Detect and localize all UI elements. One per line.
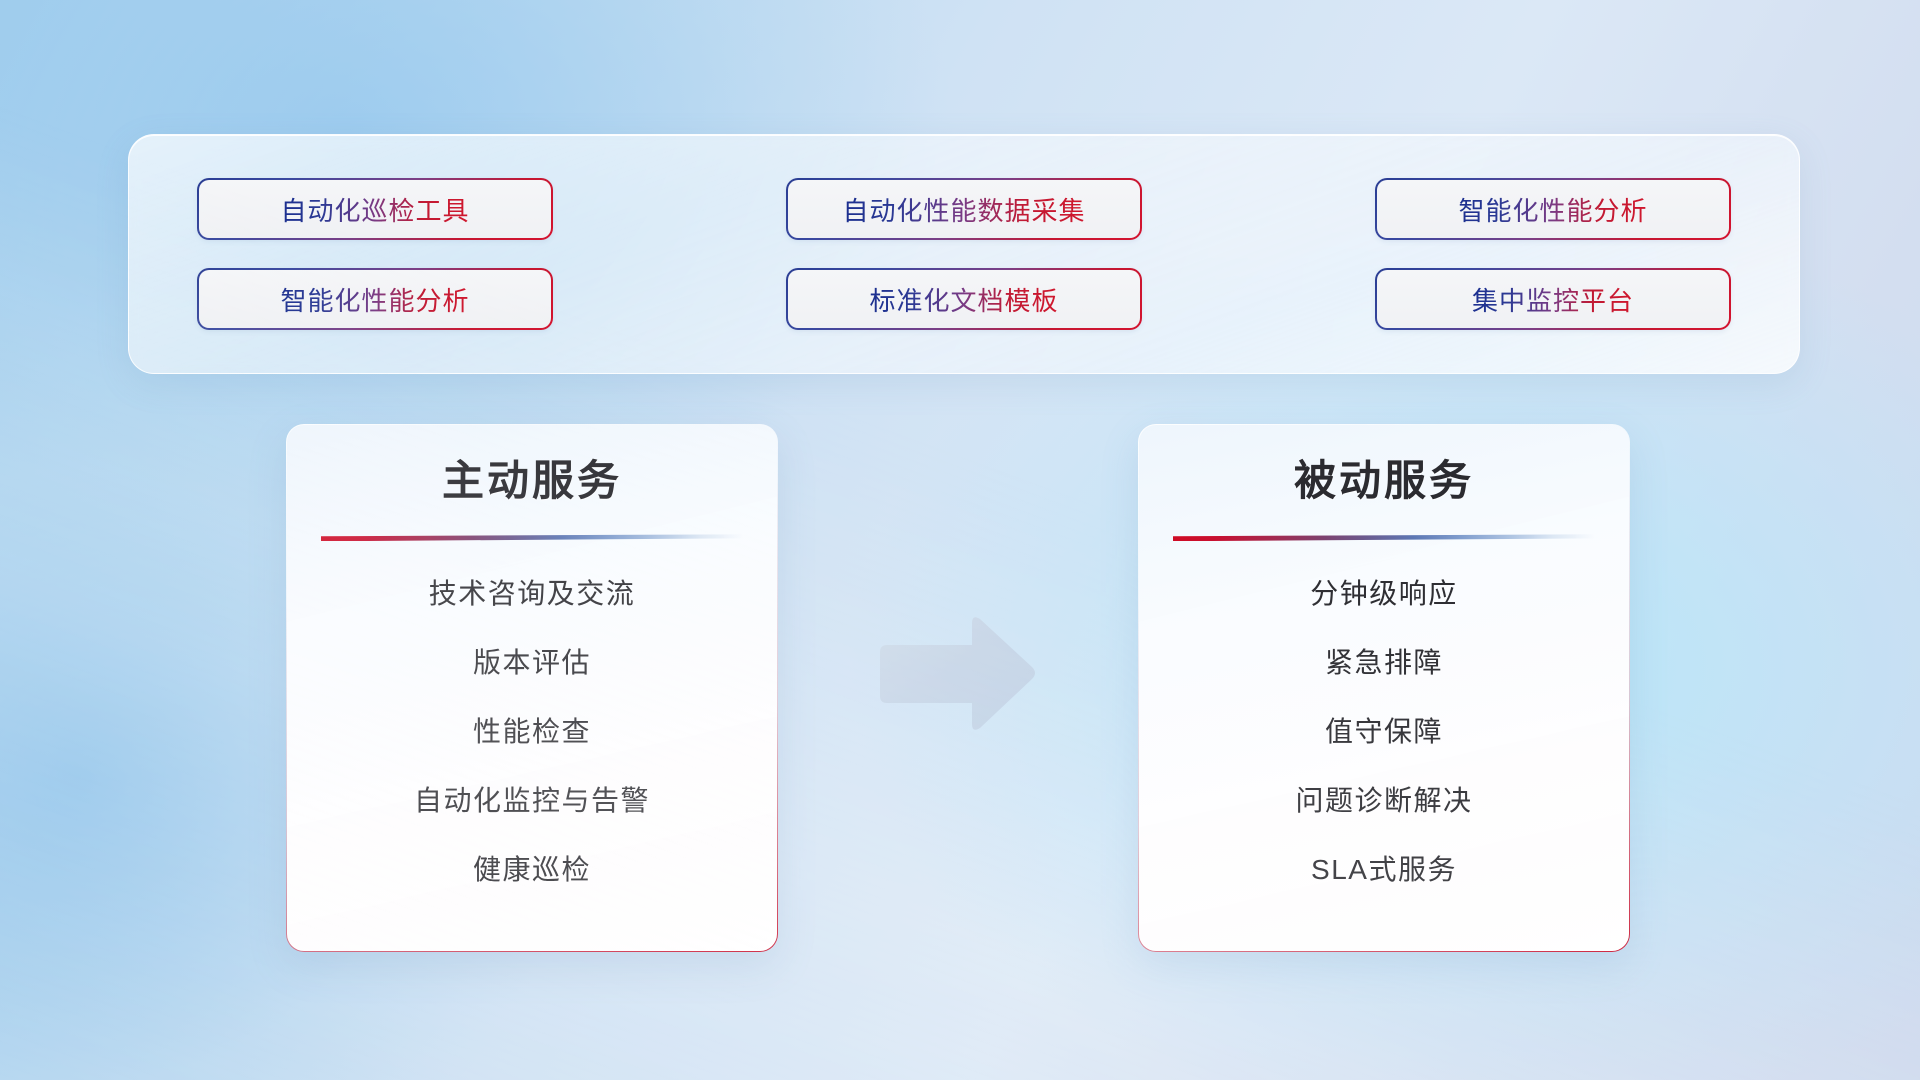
- service-card-proactive: 主动服务 技术咨询及交流 版本评估 性能检查 自动化监控与告警 健康巡检: [286, 424, 778, 952]
- gradient-bar: [1173, 534, 1595, 541]
- gradient-bar: [321, 534, 743, 541]
- card-title: 主动服务: [313, 457, 751, 505]
- pill-label: 自动化性能数据采集: [842, 191, 1085, 228]
- list-item: 版本评估: [313, 628, 751, 697]
- list-item: 自动化监控与告警: [313, 766, 751, 835]
- pill-intelligent-performance-analysis-top[interactable]: 智能化性能分析: [1375, 178, 1731, 240]
- list-item: 技术咨询及交流: [313, 559, 751, 628]
- list-item: 性能检查: [313, 697, 751, 766]
- title-divider: [321, 533, 743, 542]
- pill-intelligent-performance-analysis-bottom[interactable]: 智能化性能分析: [197, 268, 553, 330]
- pill-label: 智能化性能分析: [1458, 191, 1647, 228]
- card-title: 被动服务: [1165, 457, 1603, 505]
- list-item: 问题诊断解决: [1165, 766, 1603, 835]
- list-item: 紧急排障: [1165, 628, 1603, 697]
- list-item: 分钟级响应: [1165, 559, 1603, 628]
- pill-label: 智能化性能分析: [280, 281, 469, 318]
- title-divider: [1173, 533, 1595, 542]
- service-card-reactive: 被动服务 分钟级响应 紧急排障 值守保障 问题诊断解决 SLA式服务: [1138, 424, 1630, 952]
- list-item: 健康巡检: [313, 835, 751, 904]
- slide-canvas: 自动化巡检工具 自动化性能数据采集 智能化性能分析 智能化性能分析 标准化文档模…: [0, 0, 1920, 1080]
- pill-automation-inspection-tool[interactable]: 自动化巡检工具: [197, 178, 553, 240]
- pill-row-1: 自动化巡检工具 自动化性能数据采集 智能化性能分析: [197, 178, 1731, 240]
- pill-label: 标准化文档模板: [869, 281, 1058, 318]
- pill-label: 集中监控平台: [1472, 281, 1634, 318]
- pill-automation-performance-data-collection[interactable]: 自动化性能数据采集: [786, 178, 1142, 240]
- arrow-right-icon: [872, 612, 1038, 736]
- list-item: SLA式服务: [1165, 835, 1603, 904]
- pill-standardized-document-template[interactable]: 标准化文档模板: [786, 268, 1142, 330]
- pill-row-2: 智能化性能分析 标准化文档模板 集中监控平台: [197, 268, 1731, 330]
- card-item-list: 分钟级响应 紧急排障 值守保障 问题诊断解决 SLA式服务: [1165, 542, 1603, 925]
- pill-centralized-monitoring-platform[interactable]: 集中监控平台: [1375, 268, 1731, 330]
- pill-label: 自动化巡检工具: [280, 191, 469, 228]
- list-item: 值守保障: [1165, 697, 1603, 766]
- card-item-list: 技术咨询及交流 版本评估 性能检查 自动化监控与告警 健康巡检: [313, 542, 751, 925]
- capability-pills-panel: 自动化巡检工具 自动化性能数据采集 智能化性能分析 智能化性能分析 标准化文档模…: [128, 134, 1800, 374]
